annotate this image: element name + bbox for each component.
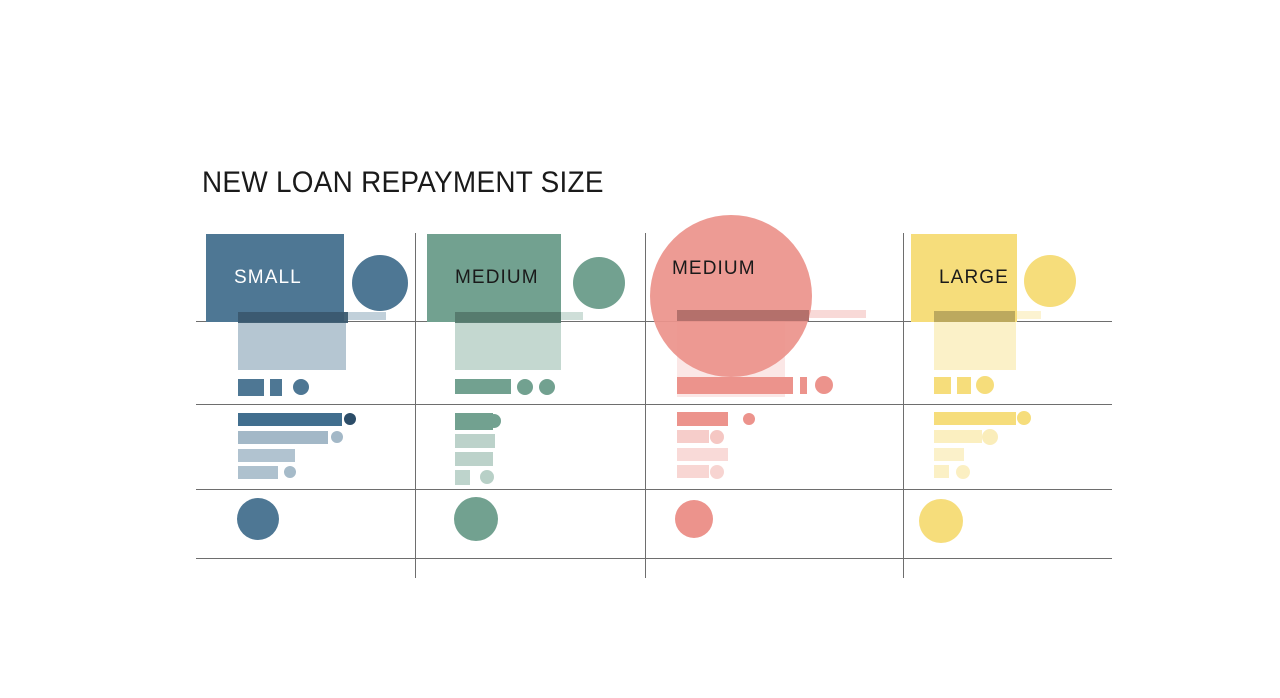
chip-small-2 bbox=[270, 379, 282, 396]
ghost-block-large bbox=[934, 322, 1016, 370]
stat-bar-medium-1-3 bbox=[455, 452, 493, 466]
stat-bar-medium-2-2 bbox=[677, 430, 709, 443]
header-underbar-dark-medium-2 bbox=[677, 310, 809, 321]
header-underbar-dark-medium-1 bbox=[455, 312, 561, 323]
stat-bar-small-3 bbox=[238, 449, 295, 462]
chip-circle-secondary-medium-1 bbox=[539, 379, 555, 395]
stat-dot-small-1 bbox=[344, 413, 356, 425]
stat-bar-medium-1-2 bbox=[455, 434, 495, 448]
stat-bar-large-3 bbox=[934, 448, 964, 461]
header-label-medium-1: MEDIUM bbox=[427, 267, 539, 289]
ghost-block-medium-1 bbox=[455, 322, 561, 370]
grid-lines bbox=[0, 0, 1280, 698]
stat-dot-large-1 bbox=[1017, 411, 1031, 425]
stat-dot-small-4 bbox=[284, 466, 296, 478]
header-marker-circle-medium-1 bbox=[573, 257, 625, 309]
chip-circle-medium-1 bbox=[517, 379, 533, 395]
chip-large-2 bbox=[957, 377, 971, 394]
gridline-vertical-3 bbox=[903, 233, 904, 578]
stat-bar-small-1 bbox=[238, 413, 342, 426]
chip-medium-1-1 bbox=[455, 379, 511, 394]
stat-dot-medium-2-1 bbox=[743, 413, 755, 425]
chip-medium-2-1 bbox=[677, 377, 793, 394]
gridline-horizontal-4 bbox=[196, 558, 1112, 559]
chip-circle-large bbox=[976, 376, 994, 394]
stat-bar-large-2 bbox=[934, 430, 982, 443]
header-label-medium-2: MEDIUM bbox=[672, 258, 756, 280]
stat-dot-medium-1-4 bbox=[480, 470, 494, 484]
summary-circle-medium-2 bbox=[675, 500, 713, 538]
stat-bar-small-2 bbox=[238, 431, 328, 444]
stat-dot-medium-2-4 bbox=[710, 465, 724, 479]
stat-bar-large-4 bbox=[934, 465, 949, 478]
stat-dot-large-4 bbox=[956, 465, 970, 479]
ghost-block-small bbox=[238, 322, 346, 370]
gridline-horizontal-3 bbox=[196, 489, 1112, 490]
summary-circle-medium-1 bbox=[454, 497, 498, 541]
stat-bar-medium-2-4 bbox=[677, 465, 709, 478]
stat-bar-small-4 bbox=[238, 466, 278, 479]
stat-bar-medium-1-4 bbox=[455, 470, 470, 485]
stat-bar-medium-2-1 bbox=[677, 412, 728, 426]
stat-dot-medium-1-1 bbox=[487, 414, 501, 428]
stat-dot-large-2 bbox=[982, 429, 998, 445]
chip-small-1 bbox=[238, 379, 264, 396]
header-block-small: SMALL bbox=[206, 234, 344, 322]
summary-circle-large bbox=[919, 499, 963, 543]
chart-canvas: NEW LOAN REPAYMENT SIZE SMALLMEDIUMMEDIU… bbox=[0, 0, 1280, 698]
stat-bar-large-1 bbox=[934, 412, 1016, 425]
chip-medium-2-2 bbox=[800, 377, 807, 394]
header-block-medium-1: MEDIUM bbox=[427, 234, 561, 322]
gridline-vertical-2 bbox=[645, 233, 646, 578]
gridline-horizontal-2 bbox=[196, 404, 1112, 405]
chip-large-1 bbox=[934, 377, 951, 394]
header-label-small: SMALL bbox=[206, 267, 302, 289]
stat-dot-medium-2-2 bbox=[710, 430, 724, 444]
chip-circle-medium-2 bbox=[815, 376, 833, 394]
header-block-large: LARGE bbox=[911, 234, 1017, 322]
chip-circle-small bbox=[293, 379, 309, 395]
header-marker-circle-small bbox=[352, 255, 408, 311]
header-label-large: LARGE bbox=[911, 267, 1009, 289]
gridline-vertical-1 bbox=[415, 233, 416, 578]
stat-bar-medium-2-3 bbox=[677, 448, 728, 461]
header-underbar-dark-large bbox=[934, 311, 1015, 322]
header-underbar-dark-small bbox=[238, 312, 348, 323]
stat-dot-small-2 bbox=[331, 431, 343, 443]
header-marker-circle-large bbox=[1024, 255, 1076, 307]
summary-circle-small bbox=[237, 498, 279, 540]
